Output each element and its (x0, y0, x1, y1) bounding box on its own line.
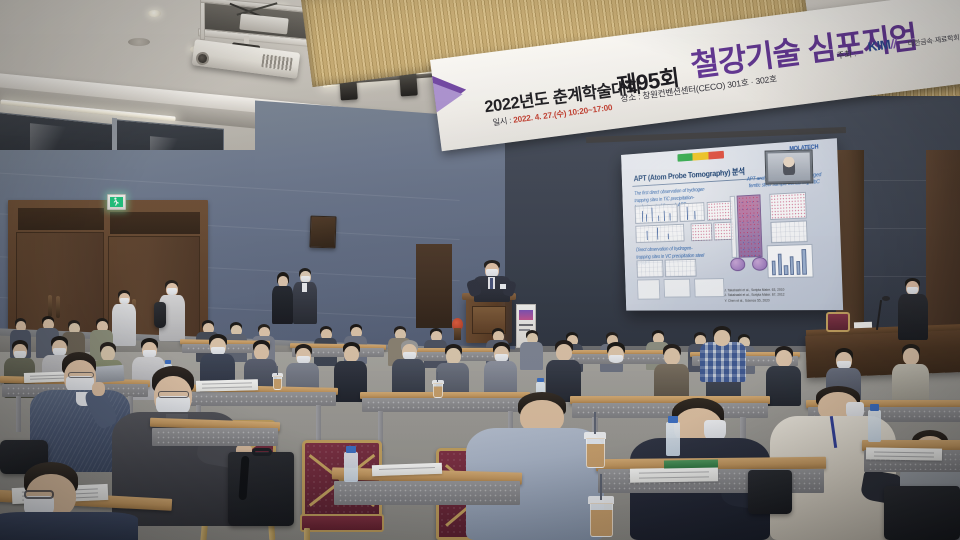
figure-grid (637, 261, 662, 277)
banner-date-label: 일시 (492, 117, 508, 128)
bottle-cap (165, 360, 171, 364)
recessed-light (148, 10, 161, 17)
banner-place-sep: : (637, 91, 640, 101)
figure-bar (784, 265, 788, 275)
head (776, 350, 792, 367)
figure-bar (790, 256, 795, 275)
slide-figure-bar-chart (767, 244, 814, 279)
torso-plaid (700, 342, 746, 382)
slide-figure-bottom-d (663, 278, 690, 298)
handout-paper (630, 467, 718, 483)
conference-hall-photo: 2022년도 춘계학술대회 제95회 철강기술 심포지엄 일시 : 2022. … (0, 0, 960, 540)
slide-figure-atom-map-2 (690, 223, 712, 242)
head (556, 344, 572, 361)
slide-topbar-segment-red (708, 151, 724, 159)
figure-grid (665, 260, 695, 276)
banner-host-label: 주최 : (836, 47, 857, 61)
apt-atom-dots (737, 195, 762, 257)
backpack-on-floor (228, 452, 294, 526)
water-bottle (344, 452, 358, 482)
door-transom-left (18, 208, 104, 230)
table-leg (16, 396, 21, 432)
figure-peak (646, 215, 647, 221)
slide-figure-bottom-a (636, 260, 663, 278)
eyeglasses (68, 372, 94, 378)
paper-text-line (874, 455, 935, 457)
head (344, 346, 359, 362)
paper-text-line (874, 451, 935, 453)
figure-bar (802, 249, 807, 275)
slide-figure-spectrum (635, 203, 678, 224)
wall-speaker (309, 216, 336, 249)
audience-foreground-bottom-left (0, 462, 140, 540)
banner-date-sep: : (509, 116, 512, 125)
water-bottle (868, 410, 881, 442)
head (664, 348, 680, 365)
slide-figure-nbc-map (769, 191, 806, 220)
banner-place-label: 장소 (620, 92, 637, 104)
staff-face-mask (907, 287, 918, 294)
ceiling-vent (128, 38, 150, 46)
head (254, 344, 269, 360)
slide-figure-bottom-b (665, 259, 697, 277)
door-transom-right (110, 212, 200, 234)
projector-cage-post-left (200, 2, 205, 40)
head (903, 348, 919, 365)
paper-text-line (379, 467, 435, 470)
folder-green (664, 460, 718, 469)
banner-host-logo-text: KIM (867, 37, 891, 55)
bottle-cap (346, 446, 356, 453)
bag-on-floor-center (748, 470, 792, 514)
iced-coffee-cup (273, 376, 282, 390)
iced-coffee-cup (586, 438, 605, 468)
backpack-handle (252, 448, 272, 456)
torso-suit (0, 512, 138, 540)
bottle-cap (870, 404, 879, 411)
slide-figure-concentration (770, 220, 807, 243)
figure-peak (658, 216, 659, 221)
figure-grid (636, 225, 684, 242)
attendee-face-mask (167, 288, 177, 295)
slide-figure-spectrum-2 (679, 202, 705, 222)
figure-peak (668, 234, 669, 239)
slide-diagram-ellipse-right (752, 257, 768, 271)
bottle-cap (537, 378, 544, 382)
bag-on-floor-right (884, 486, 960, 540)
audience-member (654, 344, 690, 404)
table-apron (334, 481, 520, 505)
slide-apt-tip-reconstruction (736, 194, 762, 258)
chair-leg (304, 528, 310, 540)
presenter-name-badge (500, 284, 506, 289)
figure-grid (680, 203, 704, 222)
eyeglasses (158, 391, 189, 398)
slide-figure-atom-map (706, 200, 732, 221)
presenter-tie (490, 278, 493, 289)
water-bottle (666, 422, 680, 456)
iced-coffee-cup (590, 503, 613, 537)
paper-text-line (639, 471, 709, 473)
figure-bar (772, 260, 776, 275)
drinking-straw (600, 474, 602, 500)
drinking-straw (277, 366, 278, 375)
figure-grid (771, 221, 806, 242)
slide-topbar-segment-green (677, 153, 692, 161)
table-apron (152, 428, 278, 446)
attendee-shirt (302, 283, 307, 292)
paper-text-line (639, 476, 709, 478)
handout-paper (866, 447, 942, 460)
monitor-person-silhouette (783, 157, 795, 176)
banner-logo-accent: // (889, 36, 897, 52)
slide-diagram-ellipse-left (730, 258, 746, 271)
bottle-cap (668, 416, 678, 423)
slide-figure-bottom-e (694, 278, 724, 298)
hand (92, 382, 105, 396)
figure-bar (777, 253, 782, 275)
wall-monitor (765, 149, 814, 184)
slide-topbar-segment-yellow (693, 152, 709, 160)
drinking-straw (594, 412, 596, 434)
exit-sign-running-man-icon (110, 197, 123, 207)
audience-member-plaid (700, 326, 748, 382)
table-leg (316, 405, 321, 441)
figure-bar (796, 261, 800, 275)
eyeglasses (24, 490, 54, 499)
audience-member (392, 340, 426, 400)
chair-seat (300, 514, 384, 532)
slide-figure-profile (635, 224, 684, 243)
drinking-straw (437, 372, 438, 382)
head (714, 330, 730, 346)
head (446, 348, 461, 364)
iced-coffee-cup (433, 383, 443, 398)
exit-sign (107, 194, 126, 210)
